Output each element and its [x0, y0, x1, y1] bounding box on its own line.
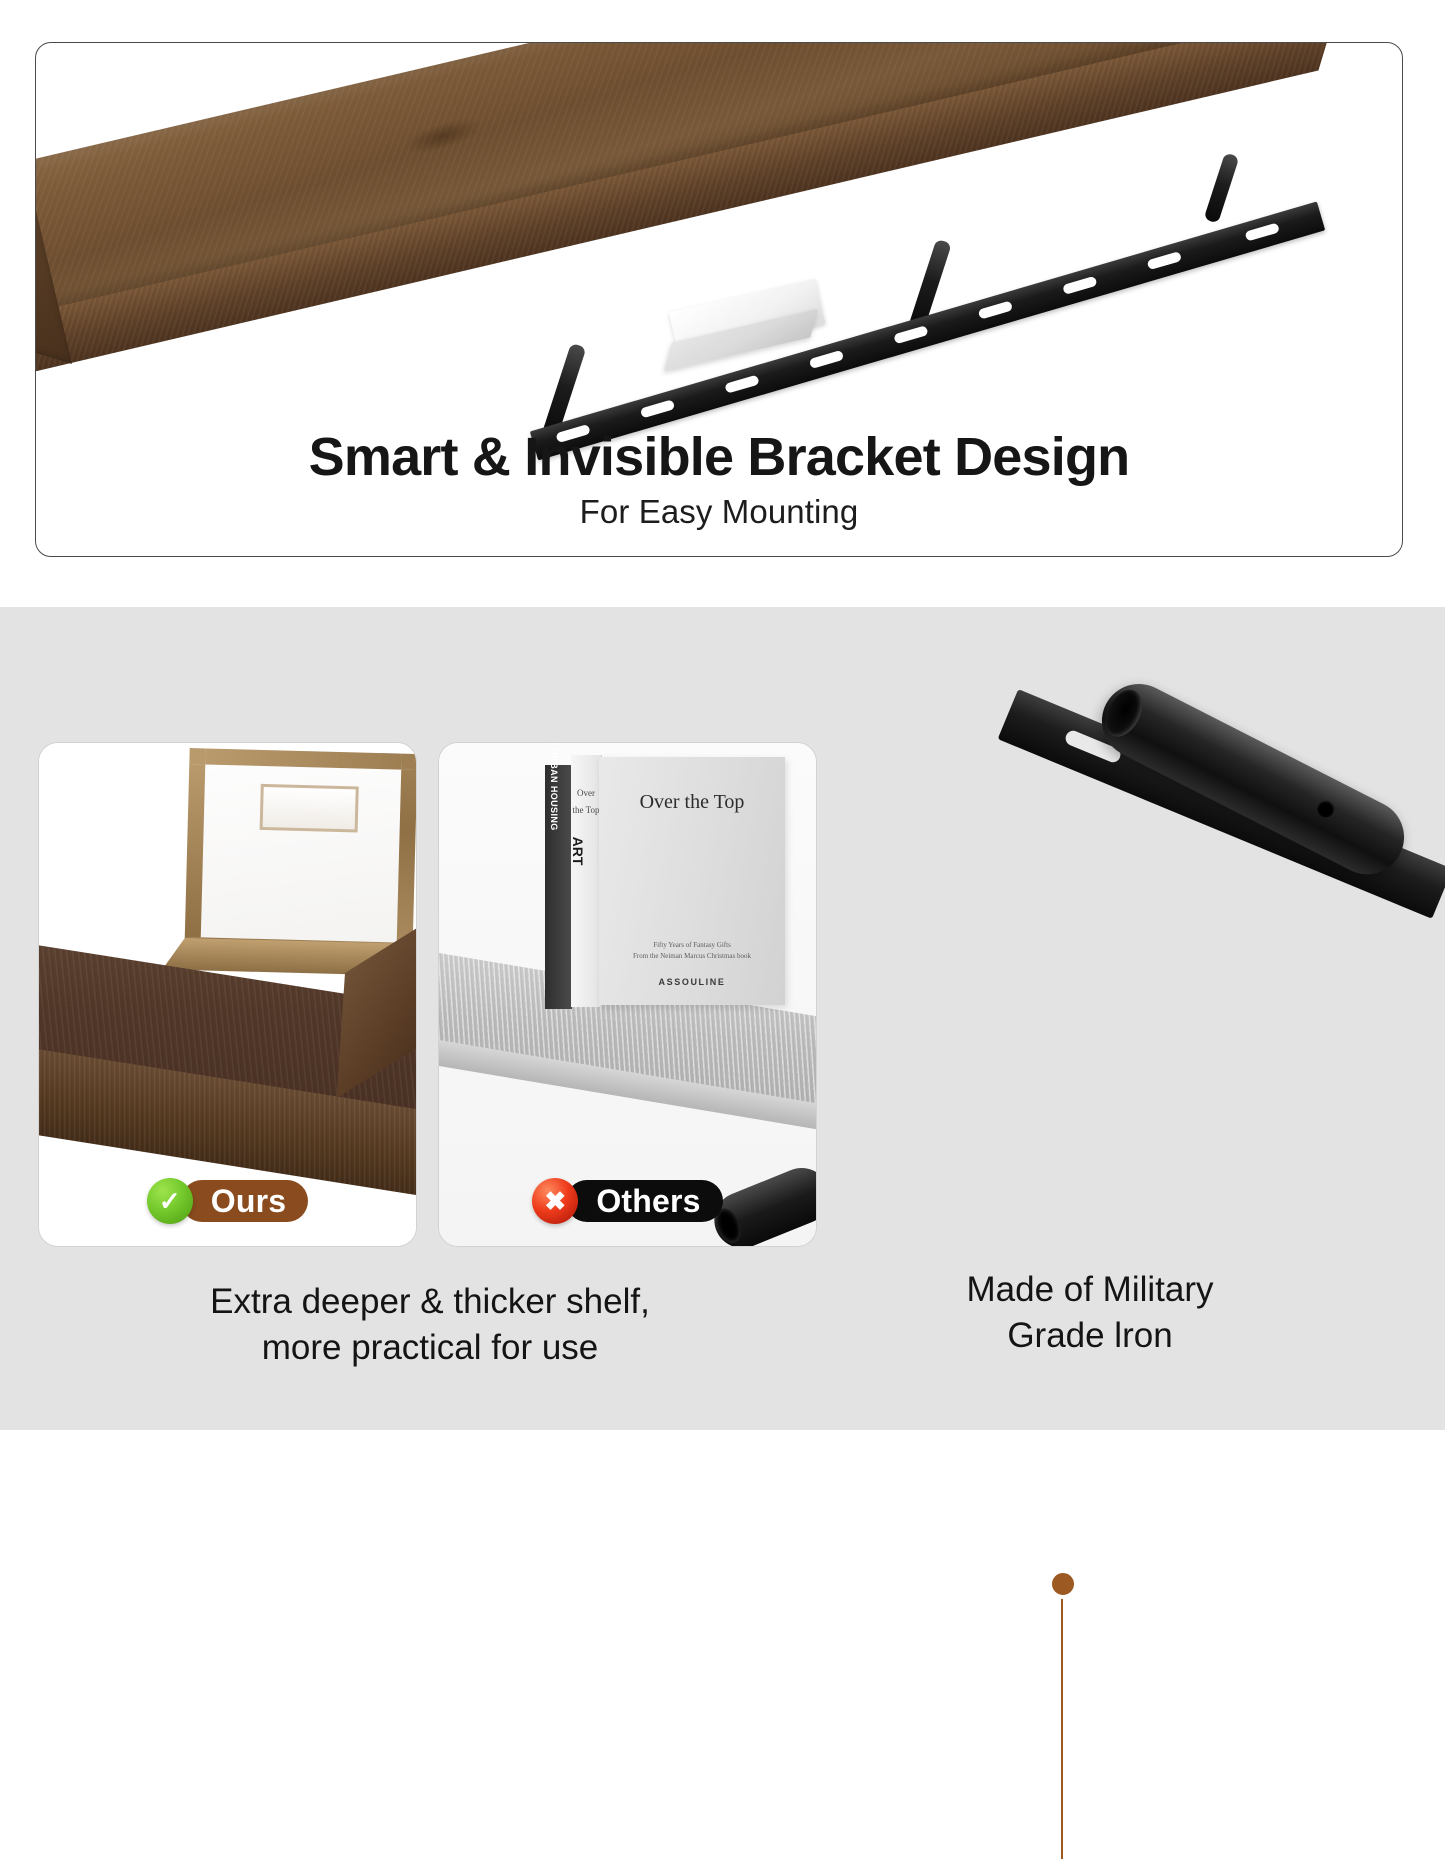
frame-photo: [260, 784, 359, 833]
book-spine-black-title: NEW URBAN HOUSING: [549, 742, 559, 831]
cross-icon: ✖: [532, 1178, 578, 1224]
tube-screw-hole: [1314, 798, 1337, 821]
ours-comparison-card: ✓ Ours: [38, 742, 417, 1247]
top-feature-card: Smart & Invisible Bracket Design For Eas…: [35, 42, 1403, 557]
rail-slot: [640, 399, 675, 418]
bracket-caption-line2: Grade lron: [1007, 1316, 1172, 1355]
book-publisher: ASSOULINE: [599, 977, 785, 987]
rail-slot: [978, 300, 1013, 319]
rail-slot: [1244, 222, 1279, 241]
others-badge: ✖ Others: [439, 1178, 816, 1224]
ours-product-photo: [39, 743, 416, 1246]
page-title: Smart & Invisible Bracket Design: [36, 429, 1402, 485]
book-subtitle: Fifty Years of Fantasy Gifts From the Ne…: [599, 940, 785, 961]
rail-slot: [809, 350, 844, 369]
ours-caption-line2: more practical for use: [262, 1328, 599, 1367]
book-spine-white-author: ART: [570, 837, 586, 866]
bracket-caption-line1: Made of Military: [966, 1270, 1213, 1309]
callout-dot: [1048, 1569, 1078, 1599]
comparison-section: ✓ Ours NEW URBAN HOUSING Over the Top AR…: [0, 607, 1445, 1430]
ours-caption-line1: Extra deeper & thicker shelf,: [210, 1282, 650, 1321]
headline-block: Smart & Invisible Bracket Design For Eas…: [36, 429, 1402, 531]
rail-slot: [893, 325, 928, 344]
rail-slot: [1147, 251, 1182, 270]
others-badge-label: Others: [566, 1180, 722, 1222]
bracket-rod: [1204, 152, 1240, 223]
others-comparison-card: NEW URBAN HOUSING Over the Top ART Over …: [438, 742, 817, 1247]
wood-knot: [399, 113, 486, 160]
top-feature-section: Smart & Invisible Bracket Design For Eas…: [0, 0, 1445, 607]
ours-badge-label: Ours: [181, 1180, 309, 1222]
rail-slot: [1062, 276, 1097, 295]
check-icon: ✓: [147, 1178, 193, 1224]
rail-slot: [724, 375, 759, 394]
tube-bore: [1098, 684, 1149, 743]
book-spine-white-title: Over the Top: [571, 785, 601, 818]
frame-mat: [184, 748, 417, 959]
bracket-caption: Made of Military Grade lron: [830, 1267, 1350, 1359]
picture-frame: [184, 748, 417, 959]
others-product-photo: NEW URBAN HOUSING Over the Top ART Over …: [439, 743, 816, 1246]
slotted-mounting-rail: [530, 201, 1325, 460]
book-spine-white: Over the Top ART: [571, 755, 602, 1007]
book-subtitle-line1: Fifty Years of Fantasy Gifts: [653, 941, 731, 949]
ours-badge: ✓ Ours: [39, 1178, 416, 1224]
book-spine-black: NEW URBAN HOUSING: [545, 765, 572, 1009]
page-subtitle: For Easy Mounting: [36, 493, 1402, 531]
callout-leader-line: [1061, 1593, 1063, 1859]
book-title: Over the Top: [599, 791, 785, 814]
ours-caption: Extra deeper & thicker shelf, more pract…: [30, 1279, 830, 1371]
book-subtitle-line2: From the Neiman Marcus Christmas book: [633, 952, 751, 960]
bracket-closeup-photo: [770, 667, 1445, 1227]
book-cover: Over the Top Fifty Years of Fantasy Gift…: [599, 757, 785, 1005]
book-stack: NEW URBAN HOUSING Over the Top ART Over …: [537, 753, 789, 1008]
